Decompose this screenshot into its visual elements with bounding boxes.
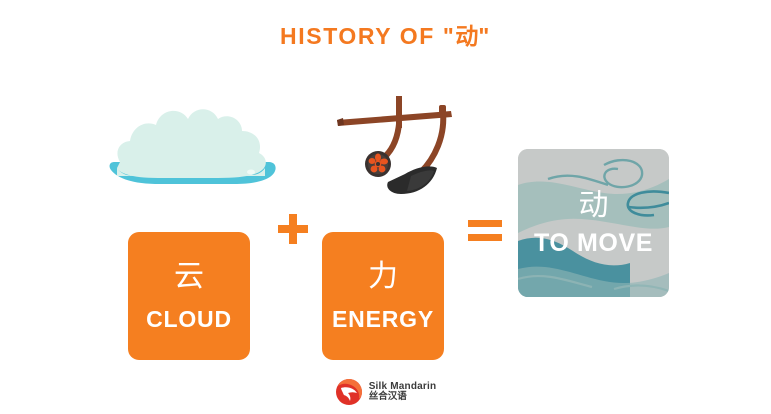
plus-operator-icon [276, 212, 312, 248]
cloud-illustration [108, 100, 278, 190]
page-title-suffix: " [478, 23, 491, 49]
page-title-character: 动 [455, 23, 478, 49]
equals-operator-icon [468, 219, 502, 243]
silk-mandarin-logo-icon [335, 378, 363, 406]
result-panel[interactable] [518, 149, 669, 297]
page-title-prefix: HISTORY OF " [280, 23, 455, 49]
component-hanzi-energy: 力 [368, 262, 398, 292]
component-gloss-cloud: CLOUD [146, 308, 232, 331]
page-title: HISTORY OF "动" [0, 17, 771, 51]
component-hanzi-cloud: 云 [174, 262, 204, 292]
brand-name-cjk: 丝合汉语 [369, 392, 437, 403]
brand-text-block: Silk Mandarin 丝合汉语 [369, 381, 437, 403]
plow-illustration [333, 88, 458, 198]
component-gloss-energy: ENERGY [332, 308, 434, 331]
infographic-canvas: HISTORY OF "动" [0, 0, 771, 414]
equals-bar-bottom [468, 234, 502, 241]
footer-brand[interactable]: Silk Mandarin 丝合汉语 [0, 378, 771, 406]
component-box-energy[interactable]: 力 ENERGY [322, 232, 444, 360]
component-box-cloud[interactable]: 云 CLOUD [128, 232, 250, 360]
equals-bar-top [468, 220, 502, 227]
